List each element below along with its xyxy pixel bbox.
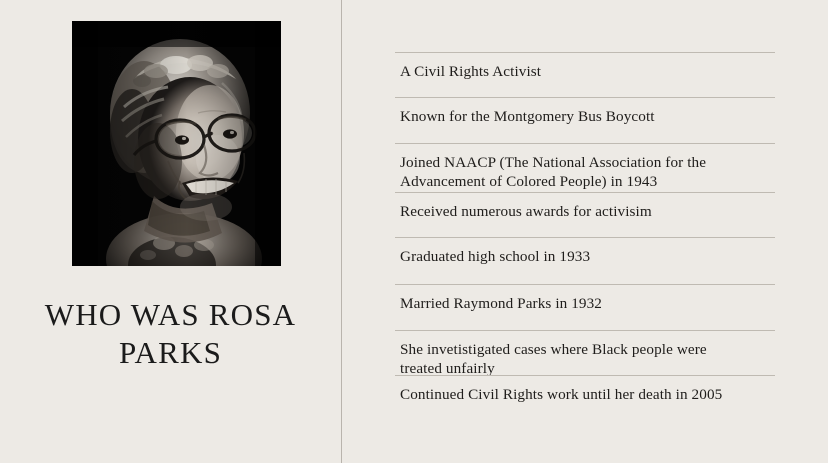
list-item-text: Known for the Montgomery Bus Boycott: [395, 98, 775, 126]
list-item-text: Graduated high school in 1933: [395, 238, 775, 266]
list-item-text: Joined NAACP (The National Association f…: [395, 144, 775, 191]
list-item: A Civil Rights Activist: [395, 52, 775, 97]
list-item-text: She invetistigated cases where Black peo…: [395, 331, 775, 378]
list-item-text: Received numerous awards for activisim: [395, 193, 775, 221]
list-item-text: Continued Civil Rights work until her de…: [395, 376, 775, 404]
left-panel: WHO WAS ROSA PARKS: [0, 0, 341, 463]
fact-list: A Civil Rights Activist Known for the Mo…: [395, 52, 775, 411]
page-title: WHO WAS ROSA PARKS: [10, 296, 331, 372]
list-item: Joined NAACP (The National Association f…: [395, 143, 775, 192]
list-item-text: A Civil Rights Activist: [395, 53, 775, 81]
list-item: Married Raymond Parks in 1932: [395, 284, 775, 330]
portrait-image: [72, 21, 281, 266]
column-divider: [341, 0, 342, 463]
list-item: Continued Civil Rights work until her de…: [395, 375, 775, 411]
list-item: Received numerous awards for activisim: [395, 192, 775, 237]
list-item-text: Married Raymond Parks in 1932: [395, 285, 775, 313]
list-item: Known for the Montgomery Bus Boycott: [395, 97, 775, 143]
slide: WHO WAS ROSA PARKS A Civil Rights Activi…: [0, 0, 828, 463]
list-item: She invetistigated cases where Black peo…: [395, 330, 775, 375]
list-item: Graduated high school in 1933: [395, 237, 775, 284]
rosa-parks-portrait: [72, 21, 281, 266]
